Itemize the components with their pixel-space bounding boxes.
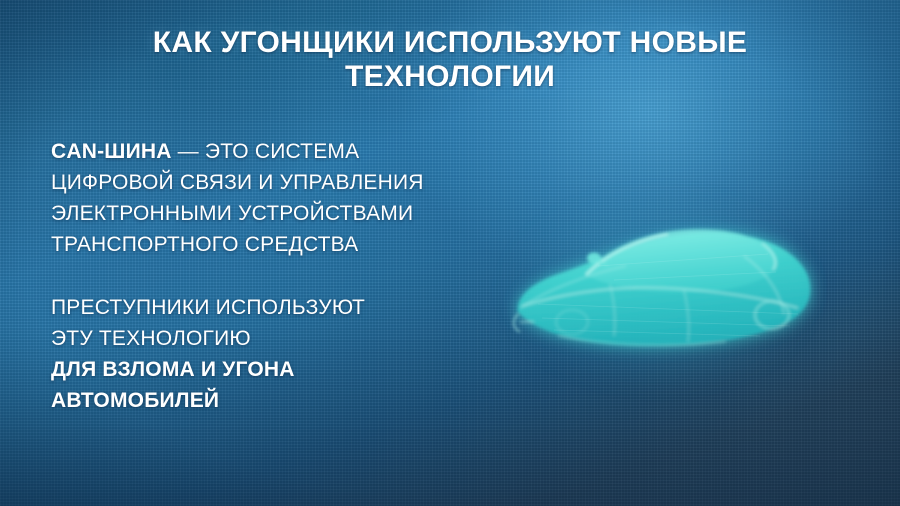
paragraph-line-text: — ЭТО СИСТЕМА: [172, 140, 360, 163]
paragraph-criminal-usage: ПРЕСТУПНИКИ ИСПОЛЬЗУЮТ ЭТУ ТЕХНОЛОГИЮ ДЛ…: [51, 292, 531, 416]
infographic-slide: КАК УГОНЩИКИ ИСПОЛЬЗУЮТ НОВЫЕ ТЕХНОЛОГИИ…: [0, 0, 900, 506]
page-title: КАК УГОНЩИКИ ИСПОЛЬЗУЮТ НОВЫЕ ТЕХНОЛОГИИ: [90, 26, 810, 94]
paragraph-line: ТРАНСПОРТНОГО СРЕДСТВА: [51, 229, 531, 260]
title-line-2: ТЕХНОЛОГИИ: [345, 60, 555, 93]
paragraph-line-emphasis: ДЛЯ ВЗЛОМА И УГОНА: [51, 354, 531, 385]
term-can-bus: CAN-ШИНА: [51, 140, 172, 163]
paragraph-line: ЭТУ ТЕХНОЛОГИЮ: [51, 323, 531, 354]
paragraph-line: CAN-ШИНА — ЭТО СИСТЕМА: [51, 136, 531, 167]
paragraph-line: ЭЛЕКТРОННЫМИ УСТРОЙСТВАМИ: [51, 198, 531, 229]
paragraph-line: ПРЕСТУПНИКИ ИСПОЛЬЗУЮТ: [51, 292, 531, 323]
paragraph-can-bus-definition: CAN-ШИНА — ЭТО СИСТЕМА ЦИФРОВОЙ СВЯЗИ И …: [51, 136, 531, 260]
paragraph-line-emphasis: АВТОМОБИЛЕЙ: [51, 385, 531, 416]
title-line-1: КАК УГОНЩИКИ ИСПОЛЬЗУЮТ НОВЫЕ: [153, 26, 747, 59]
paragraph-line: ЦИФРОВОЙ СВЯЗИ И УПРАВЛЕНИЯ: [51, 167, 531, 198]
hologram-car-icon: [498, 196, 828, 371]
